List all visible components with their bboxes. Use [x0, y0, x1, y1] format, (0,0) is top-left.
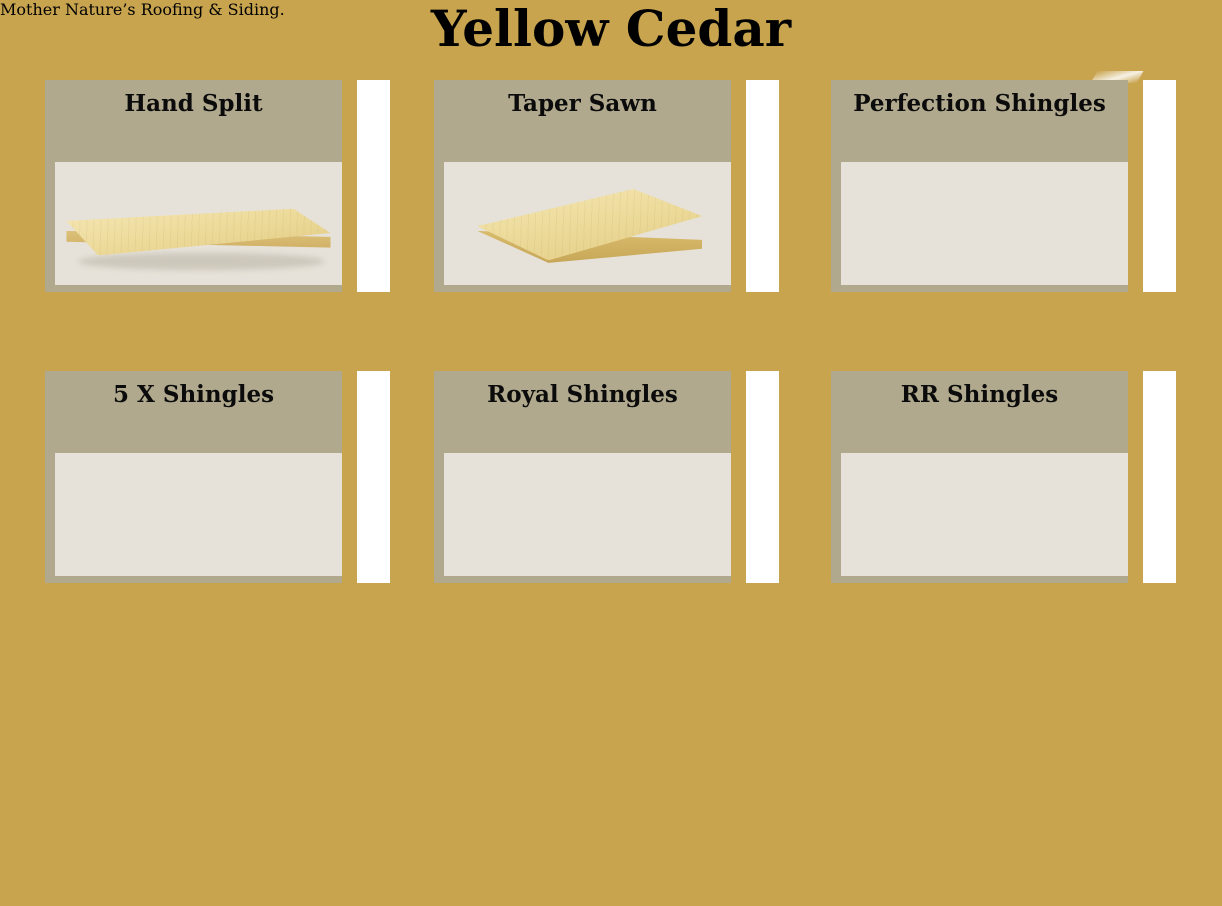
product-card-title: Perfection Shingles: [831, 89, 1128, 119]
product-card-hand-split[interactable]: Hand Split: [45, 80, 390, 292]
product-card-body: Taper Sawn: [434, 80, 731, 292]
product-card-title: Taper Sawn: [434, 89, 731, 119]
product-card-body: 5 X Shingles: [45, 371, 342, 583]
product-row: Hand Split Taper Sawn: [0, 80, 1222, 292]
product-card-body: Hand Split: [45, 80, 342, 292]
perfection-shingle-photo: [841, 162, 1128, 285]
shake-face: [66, 209, 330, 256]
product-row: 5 X Shingles Royal Shingles: [0, 371, 1222, 583]
product-card-strip: [746, 371, 779, 583]
product-card-royal-shingles[interactable]: Royal Shingles: [434, 371, 779, 583]
product-card-rr-shingles[interactable]: RR Shingles: [831, 371, 1176, 583]
product-card-title: Royal Shingles: [434, 380, 731, 410]
product-card-body: Royal Shingles: [434, 371, 731, 583]
product-card-strip: [746, 80, 779, 292]
product-card-strip: [1143, 80, 1176, 292]
product-card-strip: [357, 80, 390, 292]
shake-shadow: [78, 253, 325, 270]
hand-split-shake-photo: [55, 162, 342, 285]
product-card-taper-sawn[interactable]: Taper Sawn: [434, 80, 779, 292]
product-card-body: Perfection Shingles: [831, 80, 1128, 292]
product-card-title: Hand Split: [45, 89, 342, 119]
five-x-shingle-photo: [55, 453, 342, 576]
rr-shingle-siding-photo: [841, 453, 1128, 576]
product-card-strip: [357, 371, 390, 583]
royal-shingle-photo: [444, 453, 731, 576]
product-card-body: RR Shingles: [831, 371, 1128, 583]
product-card-title: 5 X Shingles: [45, 380, 342, 410]
product-card-perfection-shingles[interactable]: Perfection Shingles: [831, 80, 1176, 292]
product-card-strip: [1143, 371, 1176, 583]
taper-sawn-shake-photo: [444, 162, 731, 285]
page-title: Yellow Cedar: [0, 0, 1222, 60]
product-card-5-x-shingles[interactable]: 5 X Shingles: [45, 371, 390, 583]
product-card-title: RR Shingles: [831, 380, 1128, 410]
